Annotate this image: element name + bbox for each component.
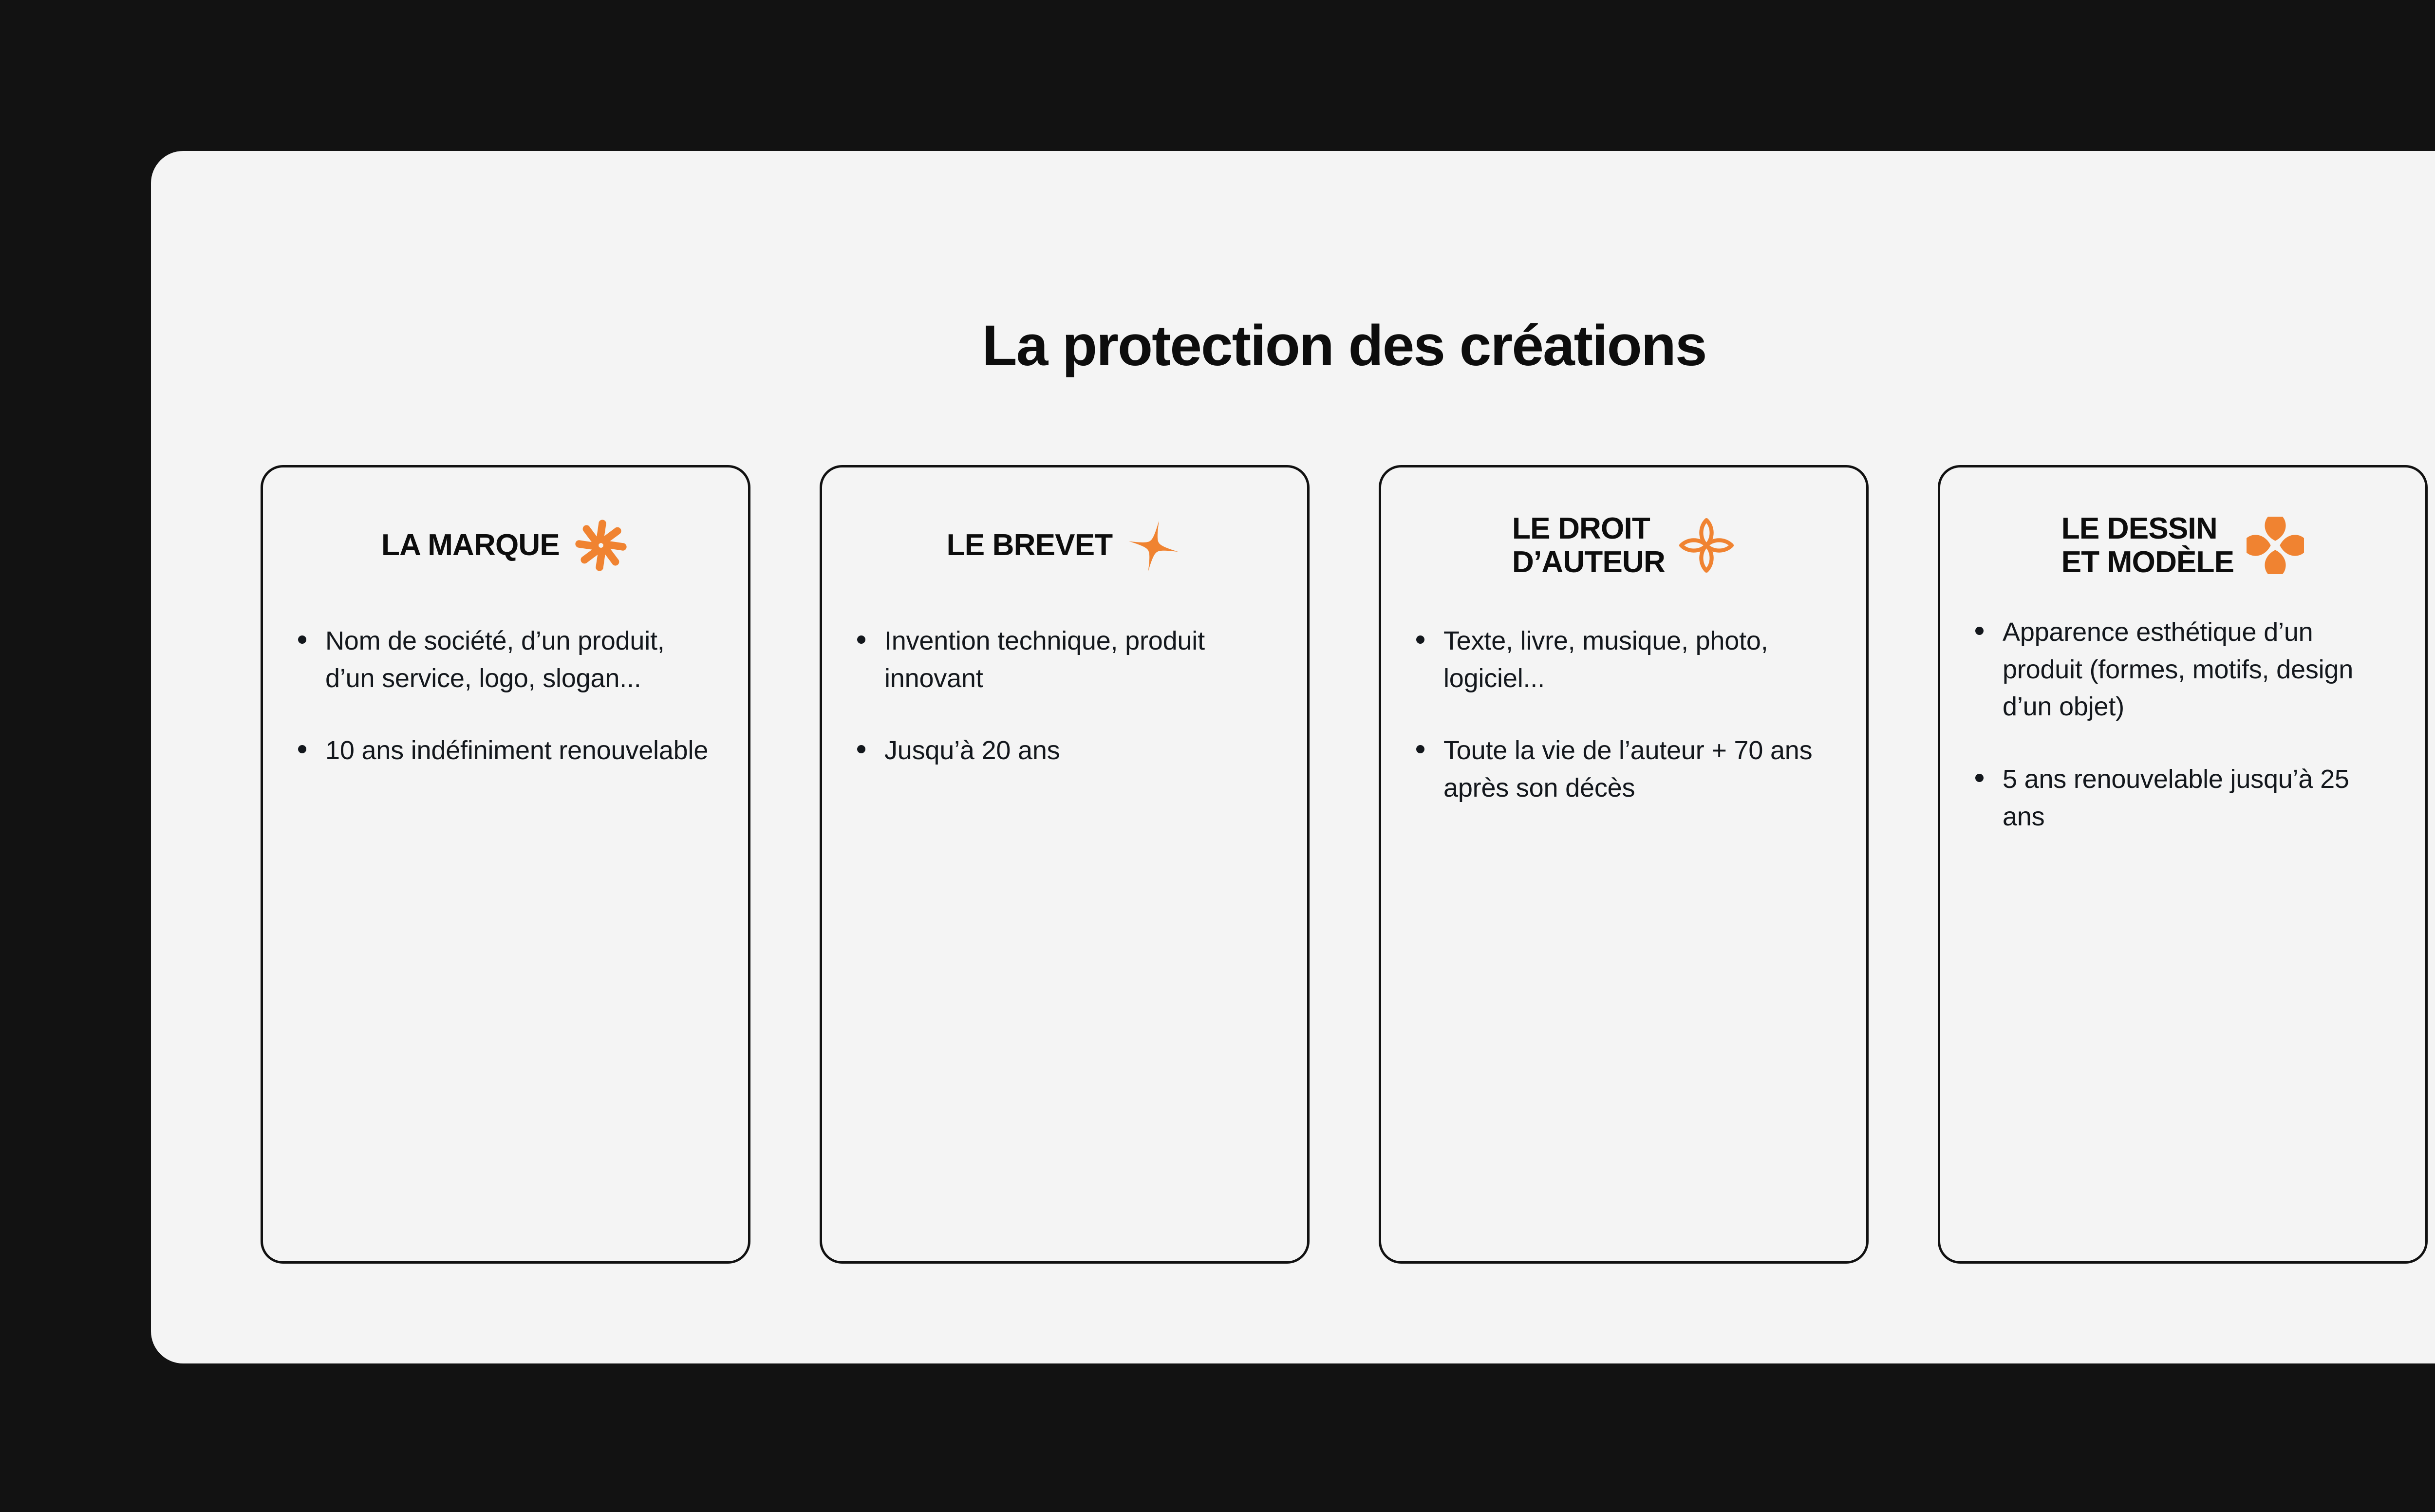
list-item: Invention technique, produit innovant — [853, 622, 1278, 697]
card-la-marque[interactable]: LA MARQUE — [261, 465, 750, 1264]
card-grid: LA MARQUE — [261, 465, 2428, 1264]
bullet-dot-icon — [298, 745, 306, 753]
list-item: Jusqu’à 20 ans — [853, 732, 1278, 769]
card-le-brevet[interactable]: LE BREVET Invention technique, pro — [820, 465, 1310, 1264]
bullet-dot-icon — [857, 745, 865, 753]
asterisk-burst-icon — [572, 517, 630, 574]
list-item-text: Texte, livre, musique, photo, logiciel..… — [1443, 626, 1768, 693]
list-item: Texte, livre, musique, photo, logiciel..… — [1412, 622, 1837, 697]
list-item: 5 ans renouvelable jusqu’à 25 ans — [1971, 761, 2396, 835]
card-le-droit-dauteur[interactable]: LE DROIT D’AUTEUR — [1379, 465, 1869, 1264]
card-title: LE BREVET — [947, 528, 1113, 562]
four-petal-filled-flower-icon — [2247, 517, 2304, 574]
bullet-dot-icon — [1416, 745, 1424, 753]
list-item: Toute la vie de l’auteur + 70 ans après … — [1412, 732, 1837, 806]
card-header: LE BREVET — [822, 467, 1307, 623]
card-header: LA MARQUE — [263, 467, 748, 623]
card-title: LE DESSIN ET MODÈLE — [2061, 512, 2234, 579]
card-header: LE DESSIN ET MODÈLE — [1940, 467, 2425, 623]
card-body: Nom de société, d’un produit, d’un servi… — [263, 622, 748, 769]
slide-canvas: La protection des créations LA MARQUE — [0, 0, 2435, 1512]
list-item: Nom de société, d’un produit, d’un servi… — [294, 622, 719, 697]
card-title: LE DROIT D’AUTEUR — [1512, 512, 1665, 579]
bullet-dot-icon — [298, 635, 306, 644]
list-item: Apparence esthétique d’un produit (forme… — [1971, 614, 2396, 726]
bullet-list: Nom de société, d’un produit, d’un servi… — [294, 622, 719, 769]
bullet-list: Apparence esthétique d’un produit (forme… — [1971, 614, 2396, 835]
bullet-dot-icon — [1975, 774, 1984, 782]
page-title: La protection des créations — [151, 317, 2435, 374]
list-item-text: 10 ans indéfiniment renouvelable — [325, 736, 708, 765]
bullet-dot-icon — [857, 635, 865, 644]
four-petal-outline-flower-icon — [1678, 517, 1735, 574]
list-item-text: Apparence esthétique d’un produit (forme… — [2003, 617, 2353, 721]
card-le-dessin-et-modele[interactable]: LE DESSIN ET MODÈLE — [1938, 465, 2428, 1264]
list-item: 10 ans indéfiniment renouvelable — [294, 732, 719, 769]
list-item-text: 5 ans renouvelable jusqu’à 25 ans — [2003, 765, 2349, 831]
content-panel: La protection des créations LA MARQUE — [151, 151, 2435, 1363]
bullet-dot-icon — [1975, 627, 1984, 635]
list-item-text: Invention technique, produit innovant — [884, 626, 1205, 693]
list-item-text: Toute la vie de l’auteur + 70 ans après … — [1443, 736, 1812, 803]
card-body: Invention technique, produit innovant Ju… — [822, 622, 1307, 769]
bullet-list: Texte, livre, musique, photo, logiciel..… — [1412, 622, 1837, 807]
card-body: Texte, livre, musique, photo, logiciel..… — [1381, 622, 1866, 807]
bullet-dot-icon — [1416, 635, 1424, 644]
four-point-star-icon — [1125, 517, 1182, 574]
card-title: LA MARQUE — [381, 528, 560, 562]
list-item-text: Nom de société, d’un produit, d’un servi… — [325, 626, 665, 693]
card-body: Apparence esthétique d’un produit (forme… — [1940, 614, 2425, 835]
list-item-text: Jusqu’à 20 ans — [884, 736, 1060, 765]
bullet-list: Invention technique, produit innovant Ju… — [853, 622, 1278, 769]
card-header: LE DROIT D’AUTEUR — [1381, 467, 1866, 623]
